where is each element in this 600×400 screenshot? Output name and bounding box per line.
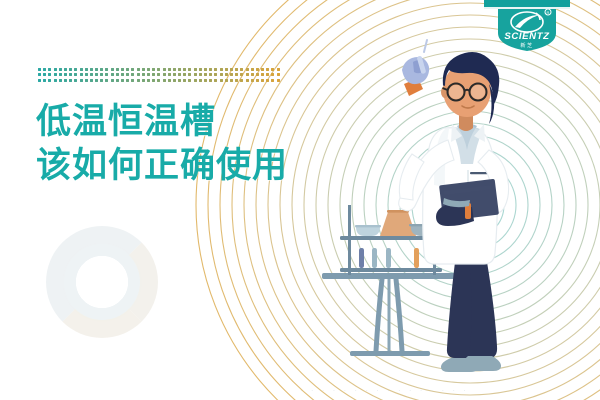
lab-table [322, 273, 464, 356]
logo-top-bar-highlight [484, 7, 570, 9]
scientist-figure [399, 40, 509, 372]
watermark: · · · · · · · · · · · · · · · · [300, 386, 590, 397]
logo-wordmark-cn: 新芝 [520, 41, 533, 49]
svg-text:R: R [547, 10, 550, 15]
logo-top-bar [484, 0, 570, 7]
scientist-illustration [0, 0, 600, 400]
logo-wordmark: SCIENTZ [504, 31, 550, 42]
promo-banner: 低温恒温槽 该如何正确使用 [0, 0, 600, 400]
brand-logo[interactable]: R SCIENTZ 新芝 [484, 0, 570, 52]
test-tubes [359, 248, 419, 268]
